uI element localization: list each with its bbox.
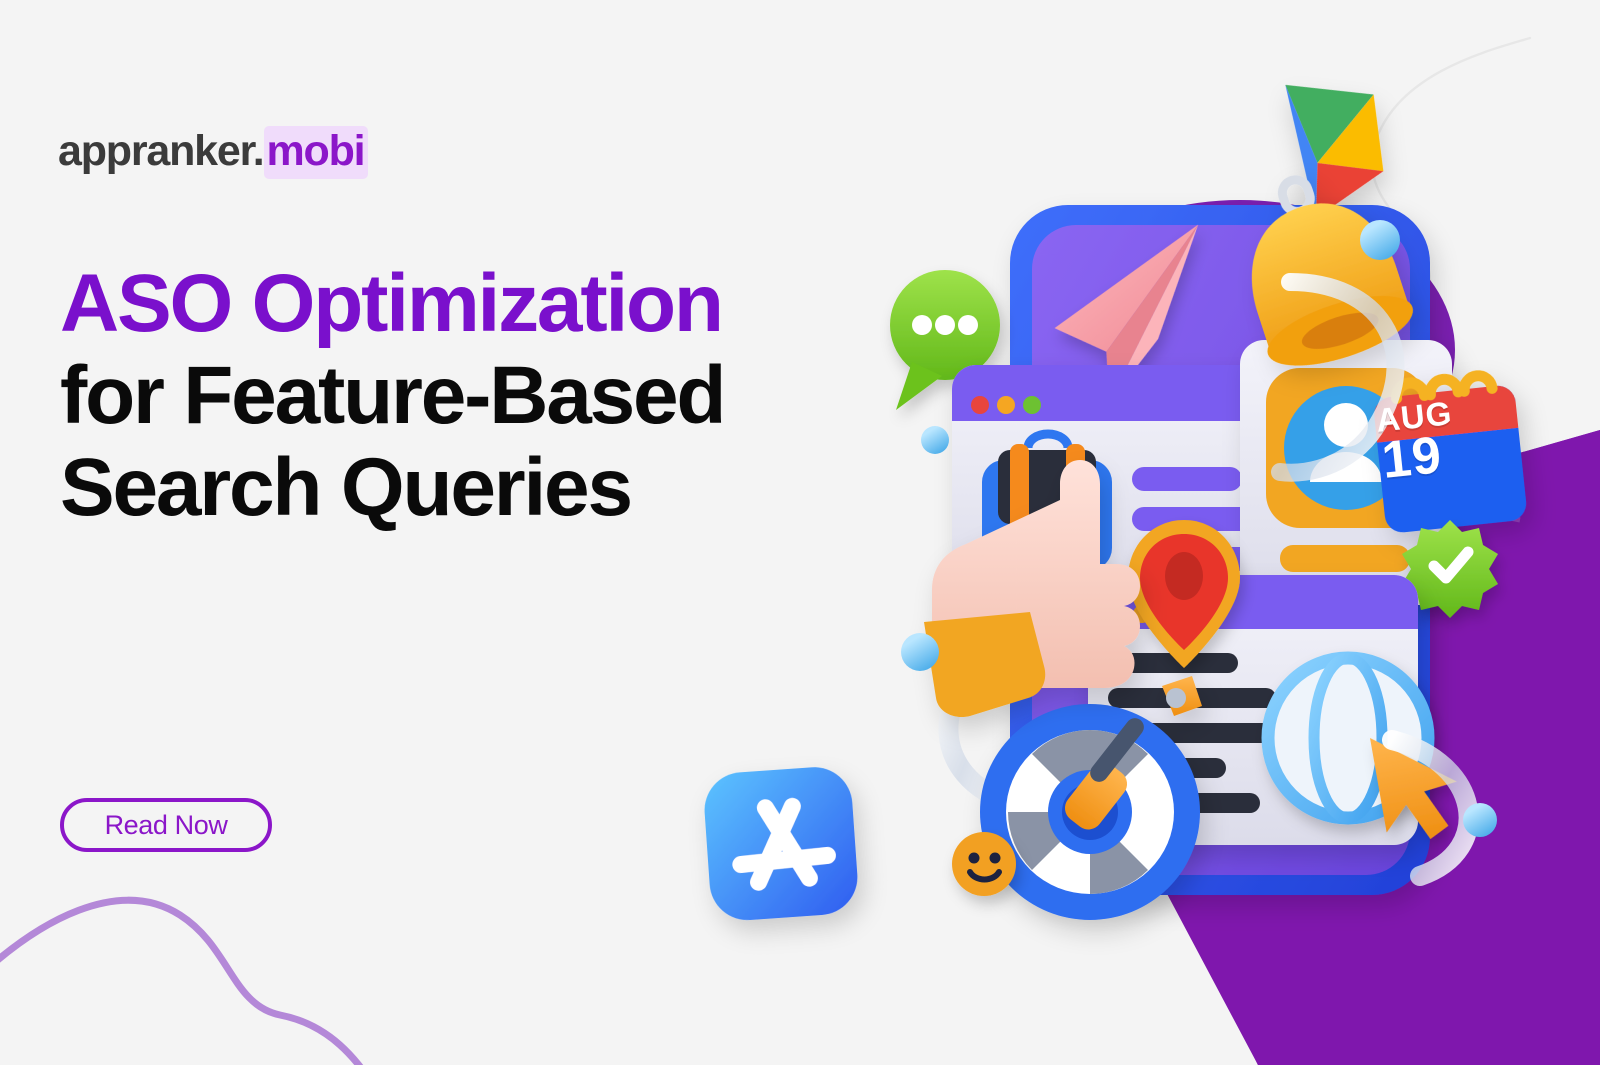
app-listing-card <box>952 365 1282 605</box>
app-store-icon <box>702 765 860 923</box>
logo-word: appranker <box>58 127 253 175</box>
glass-ring-left <box>948 660 1010 802</box>
user-avatar-icon <box>1266 368 1426 528</box>
decorative-thread-line <box>1280 20 1540 360</box>
page-title: ASO Optimization for Feature-Based Searc… <box>60 258 930 533</box>
logo-dot: . <box>253 127 264 175</box>
window-dot-red <box>971 396 989 414</box>
google-play-icon <box>1256 73 1401 231</box>
dart-icon <box>1059 676 1202 835</box>
paper-plane-icon <box>1047 211 1198 410</box>
verified-badge-icon <box>1402 520 1498 618</box>
headline-accent-line: ASO Optimization <box>60 258 930 350</box>
location-pin-icon <box>1128 520 1240 668</box>
profile-card <box>1240 340 1452 605</box>
sphere-icon <box>1463 803 1497 837</box>
read-now-button[interactable]: Read Now <box>60 798 272 852</box>
device-mockup <box>1010 205 1430 895</box>
poster-canvas: appranker.mobi ASO Optimization for Feat… <box>0 0 1600 1065</box>
briefcase-icon <box>982 434 1112 570</box>
sphere-icon <box>1360 220 1400 260</box>
smiley-icon <box>952 832 1016 896</box>
globe-icon <box>1268 658 1428 818</box>
floating-sphere-group <box>901 220 1497 837</box>
decorative-wave-line <box>0 855 400 1065</box>
glass-ring-top <box>1280 282 1396 473</box>
window-dot-yellow <box>997 396 1015 414</box>
calendar-icon <box>1371 372 1528 534</box>
cursor-arrow-icon <box>1370 724 1466 846</box>
logo-tld: mobi <box>264 126 369 179</box>
notification-bell-icon <box>1219 157 1421 380</box>
search-results-card <box>1088 575 1418 845</box>
calendar-day-label: 19 <box>1379 425 1445 491</box>
sphere-icon <box>901 633 939 671</box>
site-logo[interactable]: appranker.mobi <box>58 130 368 173</box>
window-dot-green <box>1023 396 1041 414</box>
target-dart-icon <box>980 676 1202 920</box>
glass-ring-right <box>1392 740 1469 876</box>
purple-blob-shape <box>1025 200 1455 500</box>
calendar-month-label: AUG <box>1374 394 1454 440</box>
pointing-hand-icon <box>924 460 1140 717</box>
headline-rest-line: for Feature-Based Search Queries <box>60 350 930 534</box>
